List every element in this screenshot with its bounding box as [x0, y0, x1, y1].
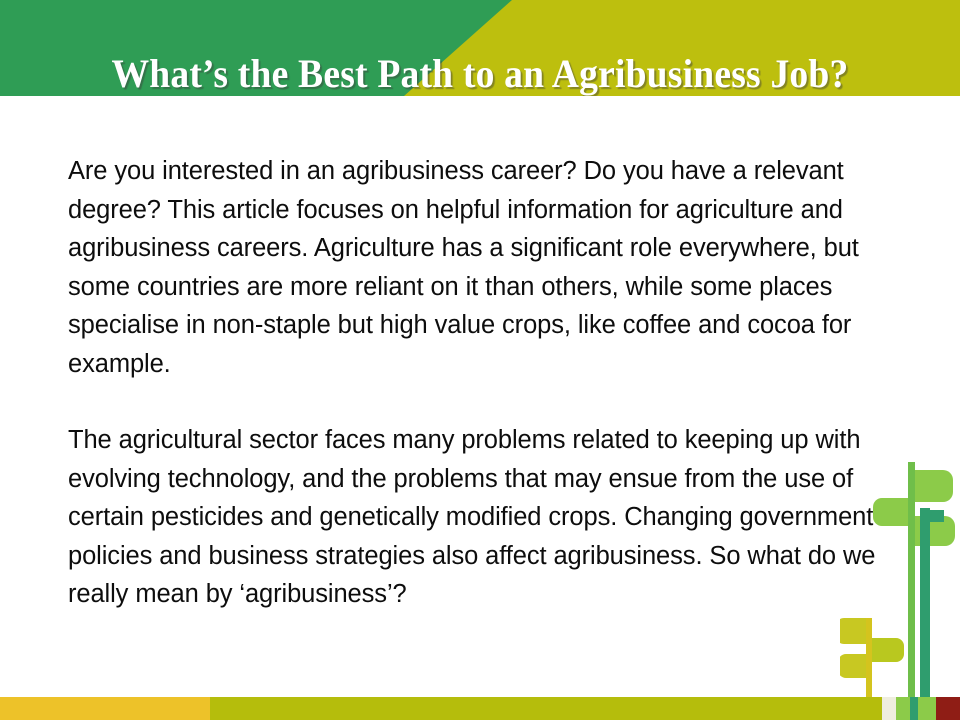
body-paragraph-2: The agricultural sector faces many probl…: [68, 421, 920, 614]
footer-segment-cream: [882, 697, 896, 720]
slide-body-content: Are you interested in an agribusiness ca…: [68, 152, 920, 614]
footer-segment-light-green-right: [918, 697, 936, 720]
footer-segment-olive: [210, 697, 882, 720]
slide-header-banner: What’s the Best Path to an Agribusiness …: [0, 0, 960, 96]
footer-color-bar: [0, 697, 960, 720]
footer-segment-gold: [0, 697, 210, 720]
footer-segment-stem-green: [910, 697, 918, 720]
footer-segment-light-green-left: [896, 697, 910, 720]
page-title: What’s the Best Path to an Agribusiness …: [29, 27, 931, 96]
body-paragraph-1: Are you interested in an agribusiness ca…: [68, 152, 920, 383]
footer-segment-dark-red: [936, 697, 960, 720]
